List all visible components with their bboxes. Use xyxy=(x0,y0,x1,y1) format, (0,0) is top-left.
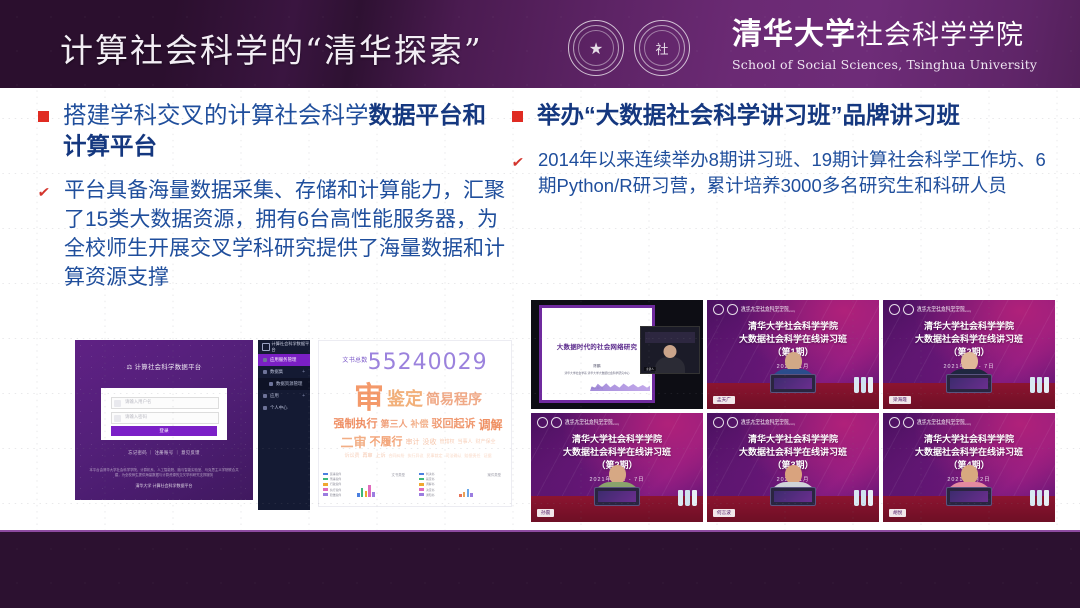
legend-label: 调解书 xyxy=(426,482,434,486)
lock-icon xyxy=(114,415,121,422)
data-platform-login-screenshot: ⚖ 计算社会科学数据平台 请输入用户名 请输入密码 登录 忘记密码 ｜ 注册账号… xyxy=(75,340,253,500)
poster-title-line2: 大数据社会科学在线讲习班 xyxy=(883,333,1055,346)
tsinghua-seal-icon xyxy=(727,304,738,315)
poster-logo-en: School of Social Sciences, Tsinghua Univ… xyxy=(741,311,795,314)
legend-label: 民事案件 xyxy=(330,472,341,476)
poster-title-line2: 大数据社会科学在线讲习班 xyxy=(707,446,879,459)
legend-swatch xyxy=(323,488,328,491)
lecture-thumbnail: 清华大学社会科学学院School of Social Sciences, Tsi… xyxy=(883,413,1055,522)
legend-entry: 执行案件 xyxy=(323,488,341,492)
legend-swatch xyxy=(323,493,328,496)
poster-logo-text: 清华大学社会科学学院School of Social Sciences, Tsi… xyxy=(917,419,971,427)
grid-icon xyxy=(263,358,267,362)
legend-label: 行政案件 xyxy=(330,482,341,486)
expand-icon[interactable]: + xyxy=(302,369,305,375)
wordcloud-term: 调解 xyxy=(479,419,503,431)
wordcloud-term: 第三人 xyxy=(380,420,407,429)
lecture-thumbnail: 清华大学社会科学学院School of Social Sciences, Tsi… xyxy=(707,413,879,522)
wordcloud-term: 财产保全 xyxy=(476,440,496,445)
wordcloud-term: 再审 xyxy=(362,454,372,459)
poster-title-line1: 清华大学社会科学学院 xyxy=(883,320,1055,333)
left-heading-bold-2: 计算平台 xyxy=(63,133,157,159)
name-plate: 何言波 xyxy=(713,509,735,517)
person-icon xyxy=(263,406,267,410)
database-icon xyxy=(263,370,267,374)
login-button[interactable]: 登录 xyxy=(111,426,217,436)
legend-label: 执行案件 xyxy=(330,488,341,492)
right-heading-text: 举办“大数据社会科学讲习班”品牌讲习班 xyxy=(537,100,960,131)
check-bullet-icon: ✔ xyxy=(511,155,526,169)
check-bullet-icon: ✔ xyxy=(37,185,52,199)
legend-entry: 判决书 xyxy=(419,472,434,476)
water-bottles xyxy=(678,490,697,506)
poster-logo-en: School of Social Sciences, Tsinghua Univ… xyxy=(741,424,795,427)
legend-label: 决定书 xyxy=(426,488,434,492)
document-count-value: 55240029 xyxy=(368,350,488,375)
laptop xyxy=(770,374,816,393)
poster-logo-en: School of Social Sciences, Tsinghua Univ… xyxy=(917,424,971,427)
poster-title-line2: 大数据社会科学在线讲习班 xyxy=(531,446,703,459)
wordcloud-term: 审 xyxy=(354,384,384,414)
legend-entry: 通知书 xyxy=(419,493,434,497)
school-logo: 清华大学社会科学学院School of Social Sciences, Tsi… xyxy=(889,417,971,428)
legend-swatch xyxy=(323,473,328,476)
legend-entry: 刑事案件 xyxy=(323,477,341,481)
wordcloud-term: 没收 xyxy=(422,439,436,446)
poster-title-line1: 清华大学社会科学学院 xyxy=(883,433,1055,446)
case-type-chart: 判决书裁定书调解书决定书通知书 案件类型 xyxy=(415,470,511,502)
data-platform-nav-screenshot: 计算社会科学数据平台 应用服务管理 数据集 + 数据资源管理 应用 + xyxy=(258,340,310,510)
wordcloud-term: 管辖权 xyxy=(439,440,454,445)
water-bottles xyxy=(1030,377,1049,393)
legend-label: 通知书 xyxy=(426,493,434,497)
poster-logo-text: 清华大学社会科学学院School of Social Sciences, Tsi… xyxy=(741,306,795,314)
school-seal-icon xyxy=(713,417,724,428)
legend-label: 判决书 xyxy=(426,472,434,476)
water-bottles xyxy=(854,377,873,393)
login-footer: 本平台由清华大学社会科学学院、计算机系、人工智能院、脑与智能实验室、马克思主义学… xyxy=(89,468,239,489)
right-column: 举办“大数据社会科学讲习班”品牌讲习班 ✔ 2014年以来连续举办8期讲习班、1… xyxy=(512,100,1060,199)
school-name-en: School of Social Sciences, Tsinghua Univ… xyxy=(732,57,1037,72)
login-brand-text: 计算社会科学数据平台 xyxy=(135,364,202,371)
poster-logo-en: School of Social Sciences, Tsinghua Univ… xyxy=(565,424,619,427)
page-title: 计算社会科学的“清华探索” xyxy=(60,24,483,72)
left-column: 搭建学科交叉的计算社会科学数据平台和计算平台 ✔ 平台具备海量数据采集、存储和计… xyxy=(38,100,508,293)
sidebar-item-label: 应用 xyxy=(270,393,279,399)
left-heading-bold-1: 数据平台 xyxy=(369,102,463,128)
legend-swatch xyxy=(419,483,424,486)
water-bottles xyxy=(1030,490,1049,506)
tsinghua-seal-icon xyxy=(727,417,738,428)
poster-title-line2: 大数据社会科学在线讲习班 xyxy=(707,333,879,346)
presentation-title: 大数据时代的社会网络研究 xyxy=(542,341,652,351)
square-bullet-icon xyxy=(38,111,49,122)
login-card: 请输入用户名 请输入密码 登录 xyxy=(101,388,227,440)
sidebar-item-label: 应用服务管理 xyxy=(270,357,296,363)
school-logo: 清华大学社会科学学院School of Social Sciences, Tsi… xyxy=(713,417,795,428)
legend-label: 刑事案件 xyxy=(330,477,341,481)
university-seals: ★ 社 xyxy=(568,20,690,76)
laptop xyxy=(770,487,816,506)
poster-logo-en: School of Social Sciences, Tsinghua Univ… xyxy=(917,311,971,314)
lecture-thumbnail-grid: 大数据时代的社会网络研究陈鹏清华大学社会学系 清华大学大数据社会科学研究中心20… xyxy=(531,300,1055,522)
nav-logo: 计算社会科学数据平台 xyxy=(258,340,310,354)
video-tile: 主讲人 xyxy=(640,326,700,374)
school-seal-icon xyxy=(537,417,548,428)
left-body-text: 平台具备海量数据采集、存储和计算能力，汇聚了15类大数据资源，拥有6台高性能服务… xyxy=(64,177,508,293)
wordcloud-term: 证据 xyxy=(484,454,492,458)
speaker-head xyxy=(664,345,677,358)
username-placeholder: 请输入用户名 xyxy=(125,399,151,405)
legend-swatch xyxy=(323,483,328,486)
poster-logo-text: 清华大学社会科学学院School of Social Sciences, Tsi… xyxy=(917,306,971,314)
presenter-affiliation: 清华大学社会学系 清华大学大数据社会科学研究中心 xyxy=(542,371,652,375)
login-brand: ⚖ 计算社会科学数据平台 xyxy=(75,362,253,371)
slide-root: 计算社会科学的“清华探索” ★ 社 清华大学社会科学学院 School of S… xyxy=(0,0,1080,608)
wordcloud-term: 补偿 xyxy=(410,420,428,429)
poster-logo-text: 清华大学社会科学学院School of Social Sciences, Tsi… xyxy=(741,419,795,427)
wordcloud-term: 赔偿责任 xyxy=(465,454,481,458)
school-seal-icon: 社 xyxy=(634,20,690,76)
left-body-bullet: ✔ 平台具备海量数据采集、存储和计算能力，汇聚了15类大数据资源，拥有6台高性能… xyxy=(38,177,508,293)
poster-title-line1: 清华大学社会科学学院 xyxy=(707,320,879,333)
login-footer-note: 本平台由清华大学社会科学学院、计算机系、人工智能院、脑与智能实验室、马克思主义学… xyxy=(89,468,239,479)
left-heading-bullet: 搭建学科交叉的计算社会科学数据平台和计算平台 xyxy=(38,100,508,161)
sidebar-item-dataset[interactable]: 数据集 + xyxy=(258,366,310,378)
sidebar-item-app-service[interactable]: 应用服务管理 xyxy=(258,354,310,366)
case-type-legend: 判决书裁定书调解书决定书通知书 xyxy=(419,472,434,498)
poster-title-line1: 清华大学社会科学学院 xyxy=(707,433,879,446)
name-plate: 孟天广 xyxy=(713,396,735,404)
sidebar-item-label: 个人中心 xyxy=(270,405,288,411)
wordcloud-term: 当事人 xyxy=(458,440,473,445)
legend-entry: 民事案件 xyxy=(323,472,341,476)
wordcloud-term: 司法确认 xyxy=(446,454,462,458)
legend-entry: 调解书 xyxy=(419,482,434,486)
square-bullet-icon xyxy=(512,111,523,122)
presentation-slide: 大数据时代的社会网络研究陈鹏清华大学社会学系 清华大学大数据社会科学研究中心20… xyxy=(539,305,655,403)
password-placeholder: 请输入密码 xyxy=(125,414,147,420)
expand-icon[interactable]: + xyxy=(302,393,305,399)
right-heading-bullet: 举办“大数据社会科学讲习班”品牌讲习班 xyxy=(512,100,1060,131)
sidebar-item-apps[interactable]: 应用 + xyxy=(258,390,310,402)
sidebar-item-label: 数据资源管理 xyxy=(276,381,302,387)
presenter-name: 陈鹏 xyxy=(542,364,652,369)
doc-type-chart-title: 文书类型 xyxy=(391,472,405,477)
wordcloud: 审鉴定简易程序强制执行第三人补偿驳回起诉调解二审不履行审计没收管辖权当事人财产保… xyxy=(333,381,503,461)
school-logo: 清华大学社会科学学院School of Social Sciences, Tsi… xyxy=(537,417,619,428)
case-type-chart-title: 案件类型 xyxy=(487,472,501,477)
tsinghua-seal-icon xyxy=(903,304,914,315)
legend-label: 赔偿案件 xyxy=(330,493,341,497)
wordcloud-term: 鉴定 xyxy=(387,390,423,408)
legend-swatch xyxy=(419,473,424,476)
school-logo: 清华大学社会科学学院School of Social Sciences, Tsi… xyxy=(713,304,795,315)
speaker-body xyxy=(655,357,685,373)
left-screenshot-group: ⚖ 计算社会科学数据平台 请输入用户名 请输入密码 登录 忘记密码 ｜ 注册账号… xyxy=(75,340,510,505)
right-body-text: 2014年以来连续举办8期讲习班、19期计算社会科学工作坊、6期Python/R… xyxy=(538,147,1060,200)
laptop xyxy=(946,374,992,393)
legend-entry: 赔偿案件 xyxy=(323,493,341,497)
legend-entry: 裁定书 xyxy=(419,477,434,481)
legend-entry: 决定书 xyxy=(419,488,434,492)
judgment-wordcloud-screenshot: 文书总数55240029 审鉴定简易程序强制执行第三人补偿驳回起诉调解二审不履行… xyxy=(318,340,512,507)
tsinghua-seal-icon: ★ xyxy=(568,20,624,76)
left-heading-text: 搭建学科交叉的计算社会科学数据平台和计算平台 xyxy=(63,100,508,161)
lecture-thumbnail: 清华大学社会科学学院School of Social Sciences, Tsi… xyxy=(883,300,1055,409)
poster-logo-text: 清华大学社会科学学院School of Social Sciences, Tsi… xyxy=(565,419,619,427)
laptop xyxy=(946,487,992,506)
case-type-bars xyxy=(459,481,473,497)
legend-swatch xyxy=(419,493,424,496)
legend-swatch xyxy=(323,478,328,481)
document-count-label: 文书总数 xyxy=(342,358,367,364)
school-seal-icon xyxy=(889,304,900,315)
school-seal-icon xyxy=(713,304,724,315)
legend-label: 裁定书 xyxy=(426,477,434,481)
wordcloud-term: 简易程序 xyxy=(426,392,482,406)
school-name-cn-bold: 清华大学 xyxy=(732,17,856,52)
wordcloud-term: 强制执行 xyxy=(333,419,377,430)
wordcloud-term: 二审 xyxy=(340,436,366,449)
legend-swatch xyxy=(419,478,424,481)
sidebar-item-data-resource[interactable]: 数据资源管理 xyxy=(258,378,310,390)
legend-entry: 行政案件 xyxy=(323,482,341,486)
login-copyright: 清华大学 计算社会科学数据平台 xyxy=(89,483,239,489)
wordcloud-term: 民事裁定 xyxy=(427,454,443,458)
school-logo: 清华大学社会科学学院School of Social Sciences, Tsi… xyxy=(889,304,971,315)
wordcloud-term: 审计 xyxy=(405,439,419,446)
username-field[interactable]: 请输入用户名 xyxy=(111,397,219,409)
left-heading-plain: 搭建学科交叉的计算社会科学 xyxy=(63,102,369,128)
slide-header: 计算社会科学的“清华探索” ★ 社 清华大学社会科学学院 School of S… xyxy=(0,0,1080,88)
password-field[interactable]: 请输入密码 xyxy=(111,412,219,424)
school-wordmark: 清华大学社会科学学院 School of Social Sciences, Ts… xyxy=(732,19,1037,72)
wordcloud-term: 合同纠纷 xyxy=(389,454,405,458)
doc-type-legend: 民事案件刑事案件行政案件执行案件赔偿案件 xyxy=(323,472,341,498)
sidebar-item-profile[interactable]: 个人中心 xyxy=(258,402,310,414)
tsinghua-seal-icon xyxy=(903,417,914,428)
school-seal-icon xyxy=(889,417,900,428)
user-icon xyxy=(114,400,121,407)
poster-title-line2: 大数据社会科学在线讲习班 xyxy=(883,446,1055,459)
lecture-thumbnail: 清华大学社会科学学院School of Social Sciences, Tsi… xyxy=(531,413,703,522)
folder-icon xyxy=(269,382,273,386)
water-bottles xyxy=(854,490,873,506)
wordcloud-term: 上诉 xyxy=(376,454,386,459)
name-plate: 梁海霞 xyxy=(889,396,911,404)
name-plate: 胡悦 xyxy=(889,509,906,517)
document-count: 文书总数55240029 xyxy=(319,350,511,375)
school-name-cn-rest: 社会科学学院 xyxy=(856,20,1024,51)
wordcloud-term: 诉讼费 xyxy=(344,454,359,459)
login-links[interactable]: 忘记密码 ｜ 注册账号 ｜ 意见反馈 xyxy=(75,450,253,456)
sidebar-item-label: 数据集 xyxy=(270,369,283,375)
scales-icon: ⚖ xyxy=(126,364,132,371)
lecture-thumbnail: 大数据时代的社会网络研究陈鹏清华大学社会学系 清华大学大数据社会科学研究中心20… xyxy=(531,300,703,409)
nav-logo-text: 计算社会科学数据平台 xyxy=(272,341,310,353)
wordcloud-term: 驳回起诉 xyxy=(432,419,476,430)
shared-screen-thumb xyxy=(645,332,695,343)
wordcloud-term: 不履行 xyxy=(369,437,402,448)
right-body-bullet: ✔ 2014年以来连续举办8期讲习班、19期计算社会科学工作坊、6期Python… xyxy=(512,147,1060,200)
slide-footer-bar xyxy=(0,530,1080,608)
wordcloud-term: 执行异议 xyxy=(408,454,424,458)
tsinghua-seal-icon xyxy=(551,417,562,428)
skyline-graphic xyxy=(590,379,650,391)
wordcloud-charts: 民事案件刑事案件行政案件执行案件赔偿案件 文书类型 判决书裁定书调解书决定书通知… xyxy=(319,470,511,502)
lecture-thumbnail: 清华大学社会科学学院School of Social Sciences, Tsi… xyxy=(707,300,879,409)
video-name-label: 主讲人 xyxy=(644,367,656,371)
poster-title-line1: 清华大学社会科学学院 xyxy=(531,433,703,446)
apps-icon xyxy=(263,394,267,398)
platform-logo-icon xyxy=(262,343,270,351)
doc-type-chart: 民事案件刑事案件行政案件执行案件赔偿案件 文书类型 xyxy=(319,470,415,502)
doc-type-bars xyxy=(357,481,375,497)
name-plate: 孙震 xyxy=(537,509,554,517)
legend-swatch xyxy=(419,488,424,491)
laptop xyxy=(594,487,640,506)
left-heading-mid: 和 xyxy=(463,102,487,128)
